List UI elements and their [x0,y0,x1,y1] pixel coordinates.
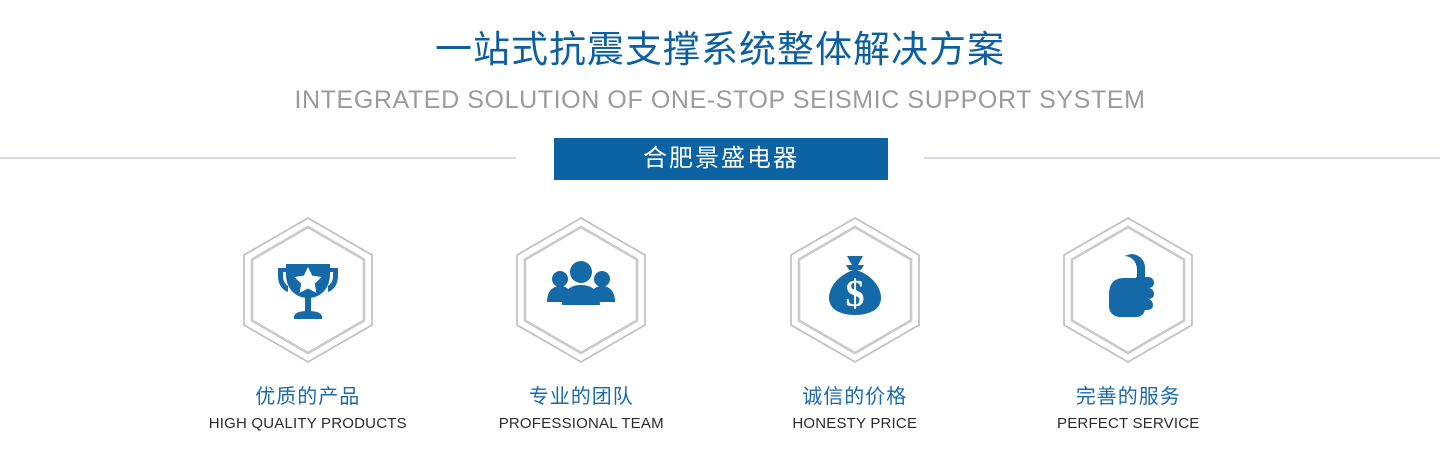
feature-label-chinese: 完善的服务 [1076,384,1181,410]
feature-label-english: HONESTY PRICE [792,414,917,434]
feature-label-chinese: 专业的团队 [529,384,634,410]
feature-item-team: 专业的团队 PROFESSIONAL TEAM [445,216,719,434]
feature-label-chinese: 优质的产品 [255,384,360,410]
feature-label-english: PERFECT SERVICE [1057,414,1199,434]
page-subtitle-english: INTEGRATED SOLUTION OF ONE-STOP SEISMIC … [0,85,1440,115]
divider-line-right [924,157,1440,159]
money-bag-icon: $ [788,216,922,364]
hexagon-frame: $ [788,216,922,364]
promo-banner-section: 一站式抗震支撑系统整体解决方案 INTEGRATED SOLUTION OF O… [0,0,1440,452]
feature-label-english: PROFESSIONAL TEAM [499,414,664,434]
feature-label-english: HIGH QUALITY PRODUCTS [209,414,407,434]
feature-item-service: 完善的服务 PERFECT SERVICE [992,216,1266,434]
page-title-chinese: 一站式抗震支撑系统整体解决方案 [0,26,1440,74]
thumbs-up-icon [1061,216,1195,364]
hexagon-frame [241,216,375,364]
divider-line-left [0,157,516,159]
heading-block: 一站式抗震支撑系统整体解决方案 INTEGRATED SOLUTION OF O… [0,26,1440,115]
feature-list: 优质的产品 HIGH QUALITY PRODUCTS [171,216,1265,434]
svg-text:$: $ [845,273,864,315]
feature-item-quality: 优质的产品 HIGH QUALITY PRODUCTS [171,216,445,434]
hexagon-frame [1061,216,1195,364]
feature-item-price: $ 诚信的价格 HONESTY PRICE [718,216,992,434]
brand-name-tag: 合肥景盛电器 [554,138,888,180]
people-group-icon [514,216,648,364]
hexagon-frame [514,216,648,364]
feature-label-chinese: 诚信的价格 [802,384,907,410]
divider-row: 合肥景盛电器 [0,138,1440,184]
trophy-star-icon [241,216,375,364]
